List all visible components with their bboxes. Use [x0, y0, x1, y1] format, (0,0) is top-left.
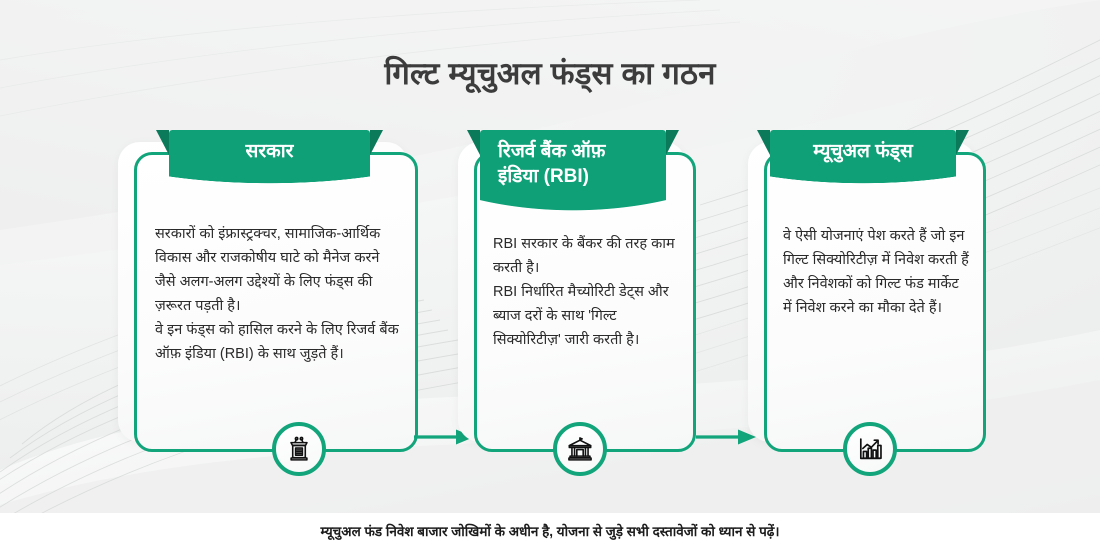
- podium-icon: [272, 422, 326, 476]
- footer-disclaimer: म्यूचुअल फंड निवेश बाजार जोखिमों के अधीन…: [0, 522, 1100, 540]
- card-ribbon-mutual-funds: म्यूचुअल फंड्स: [770, 130, 956, 185]
- page-title: गिल्ट म्यूचुअल फंड्स का गठन: [0, 52, 1100, 94]
- card-ribbon-government: सरकार: [169, 130, 370, 185]
- card-description-mutual-funds: वे ऐसी योजनाएं पेश करते हैं जो इन गिल्ट …: [783, 225, 971, 321]
- arrow-right-icon-2: [696, 428, 758, 446]
- card-heading-mutual-funds: म्यूचुअल फंड्स: [780, 140, 946, 165]
- card-heading-rbi: रिजर्व बैंक ऑफ़ इंडिया (RBI): [490, 140, 656, 189]
- card-body-government: सरकारों को इंफ्रास्ट्रक्चर, सामाजिक-आर्थ…: [134, 152, 418, 452]
- flow-cards-row: सरकारों को इंफ्रास्ट्रक्चर, सामाजिक-आर्थ…: [0, 130, 1100, 470]
- flow-card-government[interactable]: सरकारों को इंफ्रास्ट्रक्चर, सामाजिक-आर्थ…: [126, 130, 416, 460]
- flow-card-mutual-funds[interactable]: वे ऐसी योजनाएं पेश करते हैं जो इन गिल्ट …: [756, 130, 984, 460]
- bank-building-icon: [553, 422, 607, 476]
- ribbon-banner: म्यूचुअल फंड्स: [770, 130, 956, 185]
- ribbon-banner: रिजर्व बैंक ऑफ़ इंडिया (RBI): [480, 130, 666, 213]
- card-description-rbi: RBI सरकार के बैंकर की तरह काम करती है। R…: [493, 233, 681, 353]
- ribbon-banner: सरकार: [169, 130, 370, 185]
- card-description-government: सरकारों को इंफ्रास्ट्रक्चर, सामाजिक-आर्थ…: [155, 223, 401, 367]
- bar-chart-growth-icon: [843, 422, 897, 476]
- card-body-mutual-funds: वे ऐसी योजनाएं पेश करते हैं जो इन गिल्ट …: [764, 152, 986, 452]
- infographic-stage: गिल्ट म्यूचुअल फंड्स का गठन सरकारों को इ…: [0, 0, 1100, 550]
- flow-card-rbi[interactable]: RBI सरकार के बैंकर की तरह काम करती है। R…: [466, 130, 694, 460]
- card-ribbon-rbi: रिजर्व बैंक ऑफ़ इंडिया (RBI): [480, 130, 666, 213]
- card-heading-government: सरकार: [179, 140, 360, 165]
